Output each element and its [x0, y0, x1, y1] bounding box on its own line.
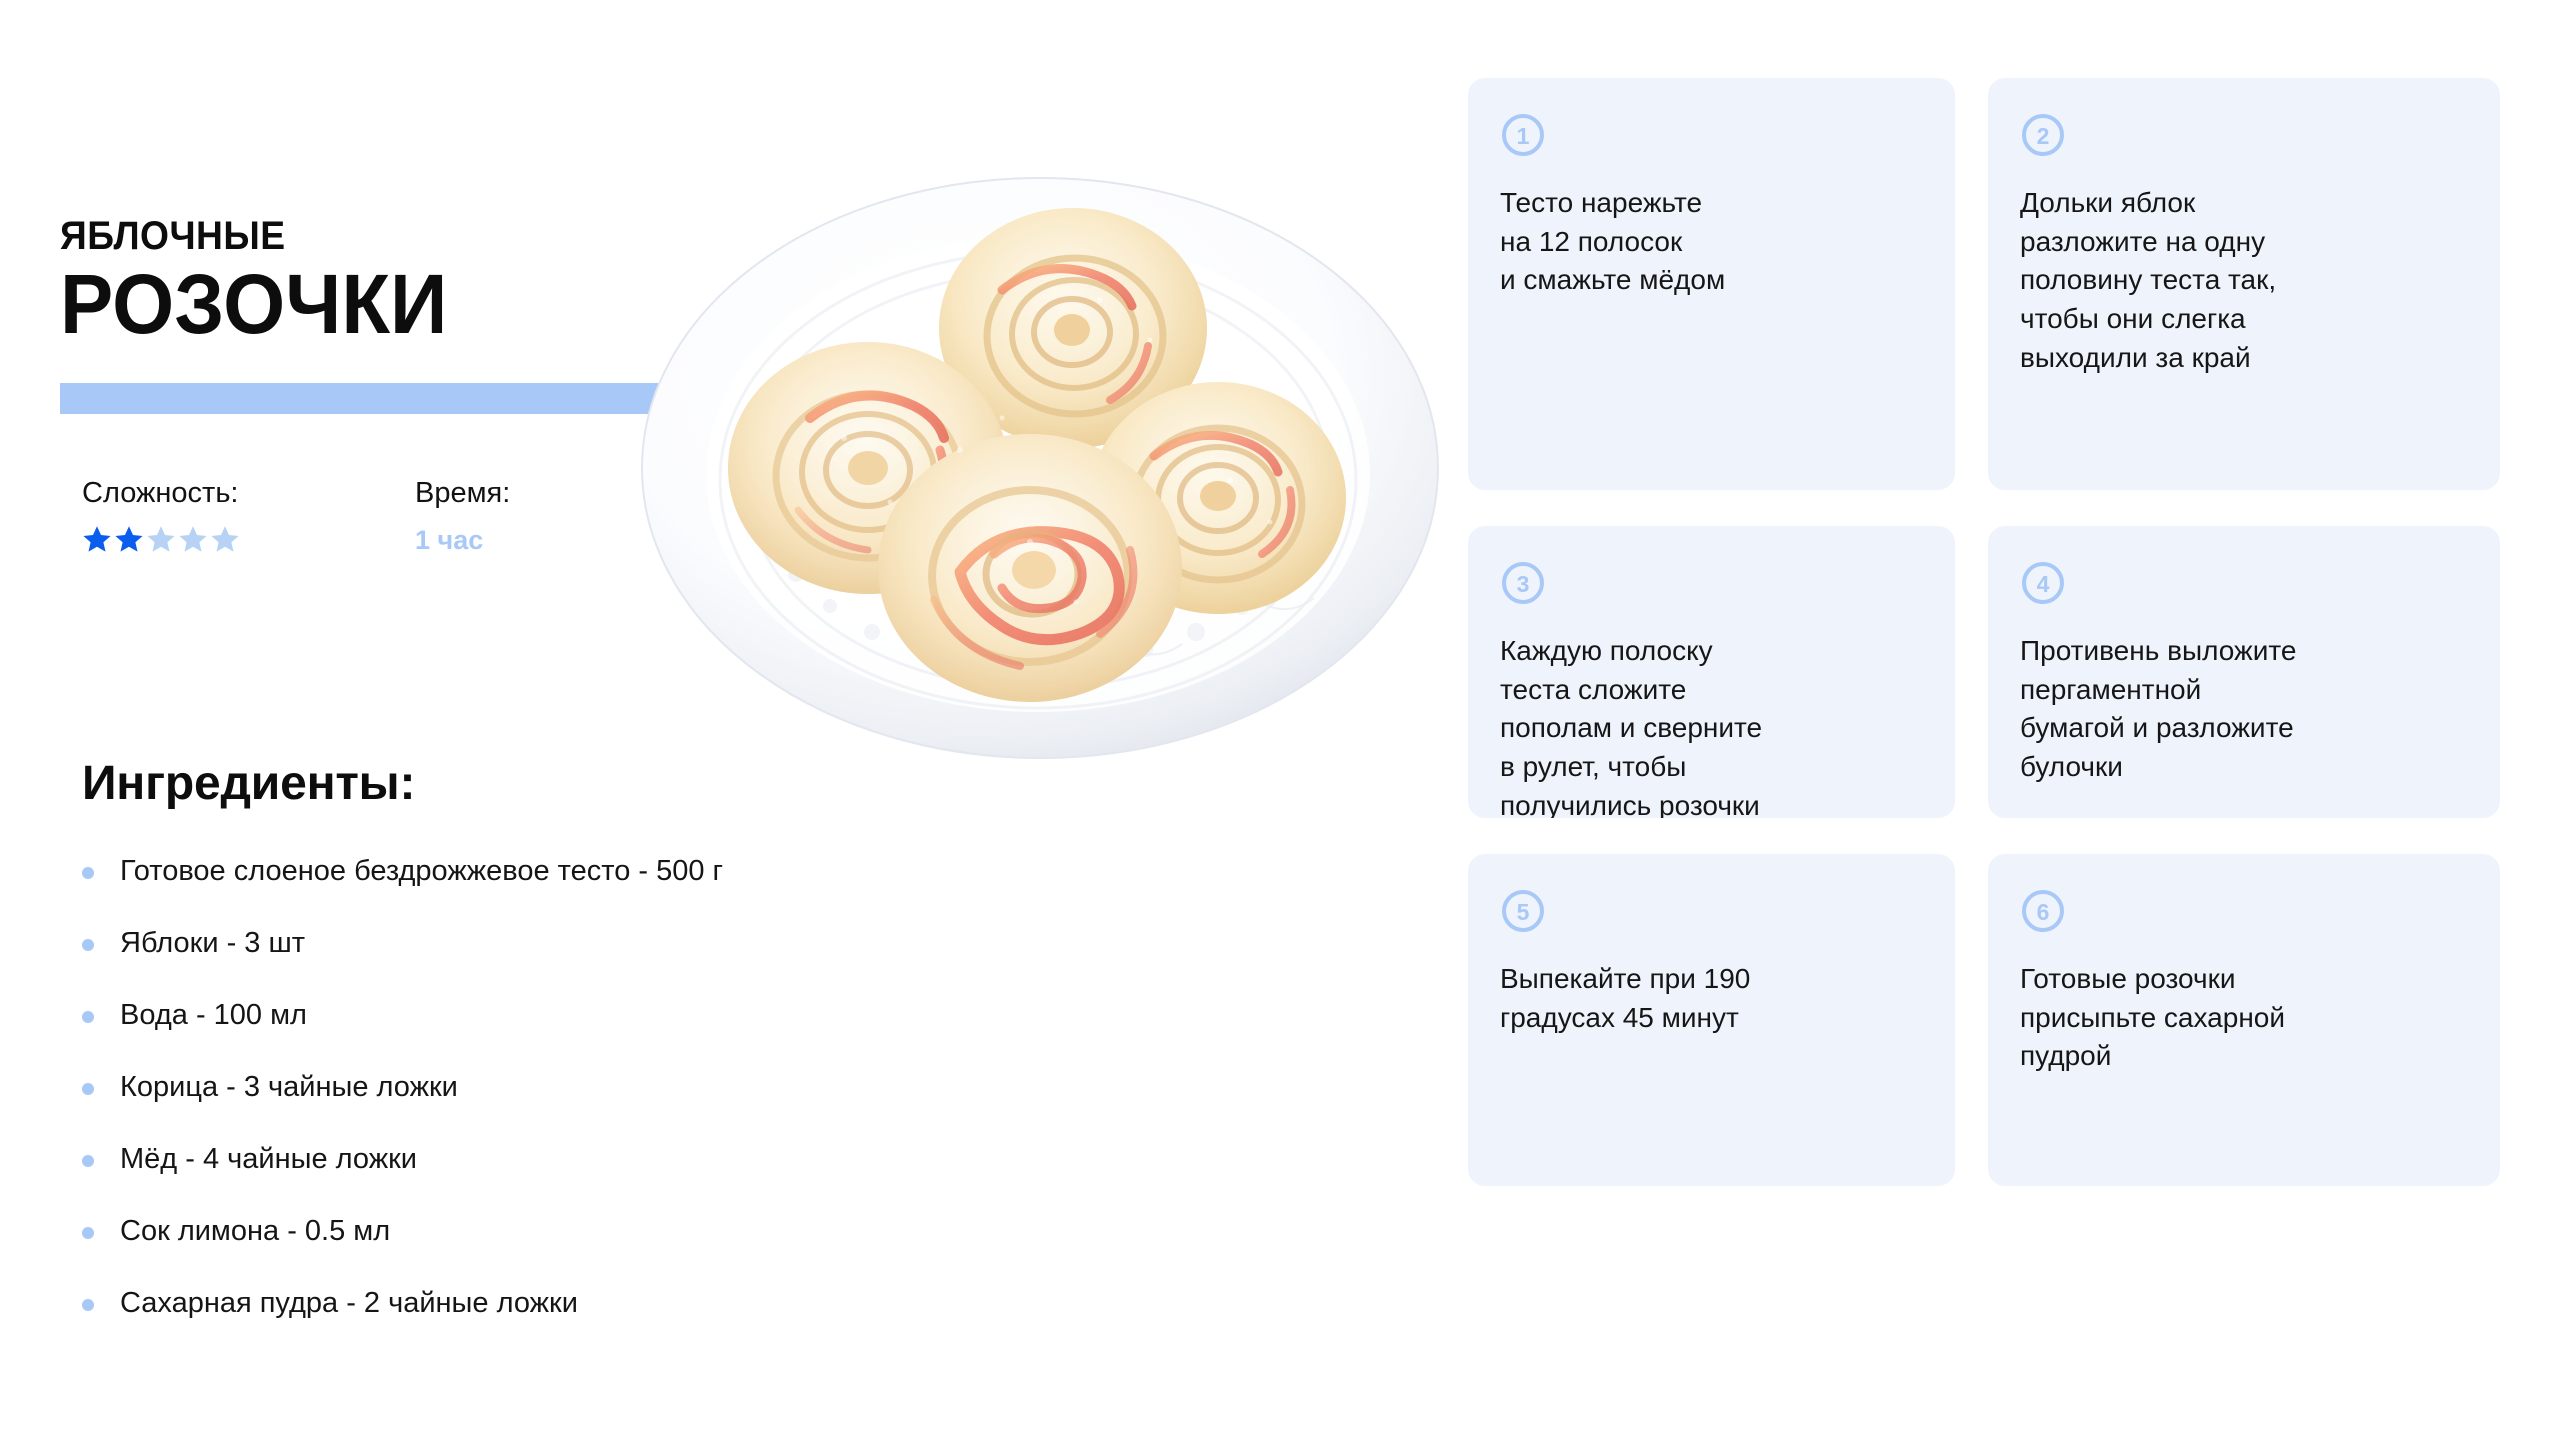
step-number-icon: 3 [1500, 560, 1546, 606]
ingredient-item: Готовое слоеное бездрожжевое тесто - 500… [82, 850, 1212, 922]
step-card: 2Дольки яблок разложите на одну половину… [1988, 78, 2500, 490]
ingredient-text: Мёд - 4 чайные ложки [120, 1138, 417, 1180]
bullet-icon [82, 1299, 94, 1311]
ingredient-text: Яблоки - 3 шт [120, 922, 305, 964]
title-accent-bar [60, 383, 670, 414]
bullet-icon [82, 867, 94, 879]
step-card: 5Выпекайте при 190 градусах 45 минут [1468, 854, 1955, 1186]
ingredient-text: Вода - 100 мл [120, 994, 307, 1036]
step-text: Выпекайте при 190 градусах 45 минут [1500, 960, 1923, 1037]
step-card: 1Тесто нарежьте на 12 полосок и смажьте … [1468, 78, 1955, 490]
step-number-icon: 5 [1500, 888, 1546, 934]
bullet-icon [82, 939, 94, 951]
difficulty-rating [82, 524, 240, 554]
ingredient-item: Сок лимона - 0.5 мл [82, 1210, 1212, 1282]
ingredients-list: Готовое слоеное бездрожжевое тесто - 500… [82, 850, 1212, 1354]
star-empty-icon [210, 524, 240, 554]
ingredient-item: Мёд - 4 чайные ложки [82, 1138, 1212, 1210]
star-empty-icon [146, 524, 176, 554]
step-text: Тесто нарежьте на 12 полосок и смажьте м… [1500, 184, 1923, 300]
bullet-icon [82, 1155, 94, 1167]
ingredient-text: Готовое слоеное бездрожжевое тесто - 500… [120, 850, 723, 892]
step-card: 4Противень выложите пергаментной бумагой… [1988, 526, 2500, 818]
ingredient-item: Яблоки - 3 шт [82, 922, 1212, 994]
bullet-icon [82, 1011, 94, 1023]
step-card: 3Каждую полоску теста сложите пополам и … [1468, 526, 1955, 818]
bullet-icon [82, 1227, 94, 1239]
recipe-card: ЯБЛОЧНЫЕ РОЗОЧКИ Сложность: Время: 1 час… [0, 0, 2560, 1440]
step-number-icon: 2 [2020, 112, 2066, 158]
step-text: Дольки яблок разложите на одну половину … [2020, 184, 2468, 377]
step-card: 6Готовые розочки присыпьте сахарной пудр… [1988, 854, 2500, 1186]
steps-grid: 1Тесто нарежьте на 12 полосок и смажьте … [1468, 78, 2500, 1358]
ingredient-text: Корица - 3 чайные ложки [120, 1066, 458, 1108]
ingredients-heading: Ингредиенты: [82, 758, 415, 811]
ingredient-text: Сок лимона - 0.5 мл [120, 1210, 390, 1252]
time-block: Время: 1 час [415, 478, 510, 556]
star-filled-icon [82, 524, 112, 554]
svg-text:4: 4 [2037, 571, 2050, 597]
svg-text:1: 1 [1517, 123, 1530, 149]
step-number-icon: 6 [2020, 888, 2066, 934]
difficulty-label: Сложность: [82, 478, 240, 510]
svg-text:2: 2 [2037, 123, 2050, 149]
step-text: Противень выложите пергаментной бумагой … [2020, 632, 2468, 787]
svg-text:6: 6 [2037, 899, 2050, 925]
step-number-icon: 1 [1500, 112, 1546, 158]
step-number-icon: 4 [2020, 560, 2066, 606]
step-text: Готовые розочки присыпьте сахарной пудро… [2020, 960, 2468, 1076]
star-empty-icon [178, 524, 208, 554]
svg-text:5: 5 [1517, 899, 1530, 925]
svg-text:3: 3 [1517, 571, 1530, 597]
difficulty-block: Сложность: [82, 478, 240, 554]
ingredient-item: Корица - 3 чайные ложки [82, 1066, 1212, 1138]
ingredient-item: Вода - 100 мл [82, 994, 1212, 1066]
star-filled-icon [114, 524, 144, 554]
dish-photo [630, 150, 1450, 770]
bullet-icon [82, 1083, 94, 1095]
step-text: Каждую полоску теста сложите пополам и с… [1500, 632, 1923, 818]
ingredient-text: Сахарная пудра - 2 чайные ложки [120, 1282, 578, 1324]
time-label: Время: [415, 478, 510, 510]
time-value: 1 час [415, 526, 510, 556]
ingredient-item: Сахарная пудра - 2 чайные ложки [82, 1282, 1212, 1354]
